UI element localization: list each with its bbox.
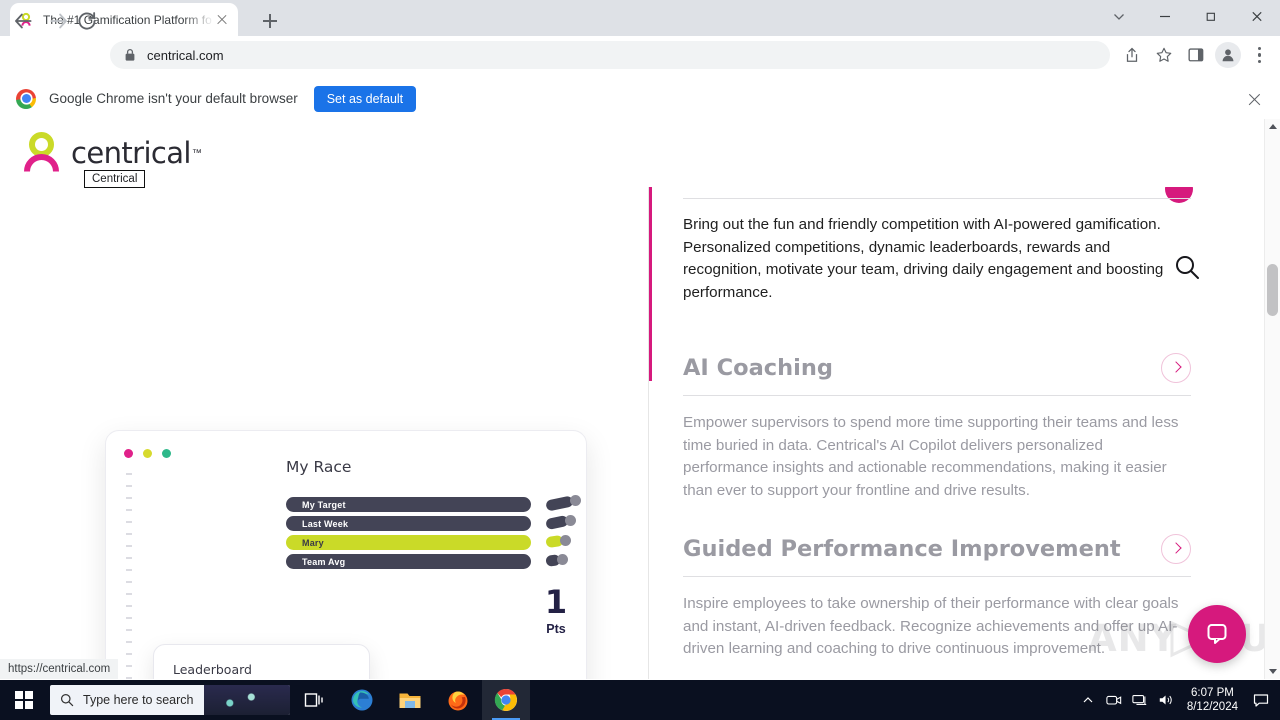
race-row: Last Week (286, 516, 531, 531)
page-scrollbar[interactable] (1264, 119, 1280, 679)
address-bar-url: centrical.com (147, 48, 224, 63)
infobar-message: Google Chrome isn't your default browser (49, 91, 298, 106)
tab-strip: The #1 Gamification Platform fo (0, 0, 1280, 36)
accordion-header[interactable]: AI Coaching (683, 353, 1191, 383)
back-arrow-icon[interactable] (10, 8, 36, 34)
race-row: Mary (286, 535, 531, 550)
firefox-icon[interactable] (434, 680, 482, 720)
page-viewport: centrical ™ Centrical My Race My (0, 119, 1280, 679)
forward-arrow-icon[interactable] (46, 8, 72, 34)
accordion-item-ai-coaching[interactable]: AI Coaching Empower supervisors to spend… (683, 353, 1191, 502)
chat-bubble-icon[interactable] (1188, 605, 1246, 663)
chrome-logo-icon (16, 89, 36, 109)
mock-dot-3 (162, 449, 171, 458)
taskbar-search-placeholder: Type here to search (83, 693, 193, 707)
windows-start-icon[interactable] (0, 680, 48, 720)
file-explorer-icon[interactable] (386, 680, 434, 720)
scroll-up-arrow-icon[interactable] (1265, 119, 1280, 134)
network-icon[interactable] (1127, 680, 1153, 720)
profile-avatar-icon[interactable] (1214, 41, 1242, 69)
left-illustration-pane: My Race My Target Last Week Mary Team Av… (0, 185, 648, 679)
centrical-logo-icon (20, 131, 63, 175)
race-row: Team Avg (286, 554, 531, 569)
active-accordion-accent-bar (649, 185, 652, 381)
points-label: Pts (526, 622, 586, 636)
runner-icon (546, 495, 606, 514)
lock-icon (124, 48, 136, 62)
divider (683, 395, 1191, 396)
accordion-title: AI Coaching (683, 355, 833, 381)
camera-icon[interactable] (1101, 680, 1127, 720)
race-row-label: My Target (302, 500, 346, 510)
accordion-header[interactable]: Guided Performance Improvement (683, 534, 1191, 564)
race-row-label: Team Avg (302, 557, 345, 567)
race-row-label: Mary (302, 538, 324, 548)
show-hidden-icons-chevron[interactable] (1075, 680, 1101, 720)
tab-close-icon[interactable] (214, 12, 230, 28)
taskbar-clock[interactable]: 6:07 PM 8/12/2024 (1179, 686, 1246, 714)
site-logo-text: centrical (71, 136, 191, 170)
browser-window: The #1 Gamification Platform fo (0, 0, 1280, 720)
anyrun-watermark: ANY RUN (1088, 613, 1278, 675)
divider (683, 576, 1191, 577)
points-value: 1 (526, 586, 586, 618)
svg-text:ANY: ANY (1088, 617, 1178, 660)
runner-icon (546, 514, 606, 533)
side-panel-icon[interactable] (1182, 41, 1210, 69)
mock-sidebar-rail (126, 473, 132, 679)
window-controls (1096, 0, 1280, 36)
race-row: My Target (286, 497, 531, 512)
system-tray: 6:07 PM 8/12/2024 (1075, 680, 1280, 720)
mock-dot-2 (143, 449, 152, 458)
site-logo[interactable]: centrical ™ (20, 131, 202, 175)
search-icon (60, 693, 74, 707)
infobar-close-icon[interactable] (1246, 91, 1262, 107)
share-icon[interactable] (1118, 41, 1146, 69)
mock-dot-1 (124, 449, 133, 458)
accordion-item-gamification: Bring out the fun and friendly competiti… (683, 198, 1191, 304)
chevron-down-icon[interactable] (1096, 0, 1142, 36)
my-race-title: My Race (286, 458, 351, 476)
new-tab-button[interactable] (258, 9, 282, 33)
chrome-icon[interactable] (482, 680, 530, 720)
volume-icon[interactable] (1153, 680, 1179, 720)
edge-icon[interactable] (338, 680, 386, 720)
site-header: centrical ™ Centrical (0, 119, 1265, 187)
chevron-right-icon[interactable] (1161, 353, 1191, 383)
windows-taskbar: Type here to search (0, 680, 1280, 720)
logo-trademark: ™ (192, 148, 202, 159)
race-row-label: Last Week (302, 519, 348, 529)
clock-date: 8/12/2024 (1187, 700, 1238, 714)
my-race-mock-window: My Race My Target Last Week Mary Team Av… (105, 430, 587, 679)
search-thumbnail (204, 685, 290, 715)
link-status-bubble: https://centrical.com (0, 659, 118, 679)
chevron-right-icon[interactable] (1161, 534, 1191, 564)
minimize-icon[interactable] (1142, 0, 1188, 36)
maximize-icon[interactable] (1188, 0, 1234, 36)
race-bars: My Target Last Week Mary Team Avg (286, 497, 531, 573)
default-browser-infobar: Google Chrome isn't your default browser… (0, 78, 1280, 120)
divider (683, 198, 1191, 199)
browser-tab[interactable]: The #1 Gamification Platform fo (10, 3, 238, 36)
toolbar-icons (1118, 41, 1274, 69)
points-display: 1 Pts (526, 586, 586, 636)
taskbar-search-input[interactable]: Type here to search (50, 685, 290, 715)
clock-time: 6:07 PM (1187, 686, 1238, 700)
runner-icon (546, 533, 606, 552)
reload-icon[interactable] (74, 8, 100, 34)
scroll-down-arrow-icon[interactable] (1265, 664, 1280, 679)
notification-icon[interactable] (1246, 680, 1276, 720)
accordion-title: Guided Performance Improvement (683, 536, 1121, 562)
bookmark-star-icon[interactable] (1150, 41, 1178, 69)
runner-icon (546, 552, 606, 571)
close-icon[interactable] (1234, 0, 1280, 36)
leaderboard-card: Leaderboard (153, 644, 370, 679)
accordion-body: Bring out the fun and friendly competiti… (683, 214, 1191, 304)
logo-tooltip: Centrical (84, 170, 145, 188)
leaderboard-title: Leaderboard (173, 662, 252, 677)
search-icon[interactable] (1172, 252, 1202, 282)
task-view-icon[interactable] (290, 680, 338, 720)
scrollbar-thumb[interactable] (1267, 264, 1278, 316)
race-runner-icons (546, 495, 606, 571)
set-as-default-button[interactable]: Set as default (314, 86, 416, 112)
mock-window-dots (124, 449, 171, 458)
address-bar[interactable]: centrical.com (110, 41, 1110, 69)
three-dot-menu-icon[interactable] (1246, 41, 1274, 69)
accordion-body: Empower supervisors to spend more time s… (683, 412, 1191, 502)
